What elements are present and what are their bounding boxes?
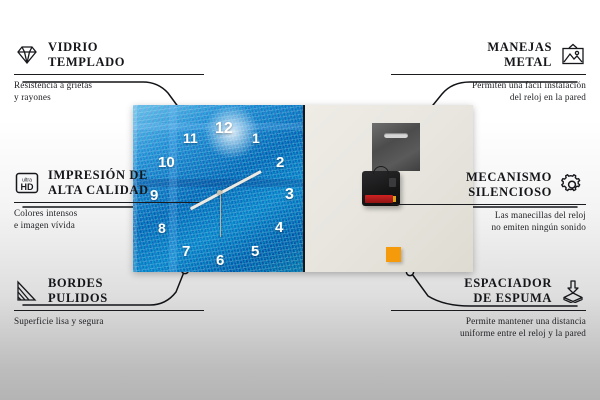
feature-title-line2: DE ESPUMA <box>464 291 552 306</box>
feature-title-line2: SILENCIOSO <box>466 185 552 200</box>
feature-title-line2: TEMPLADO <box>48 55 125 70</box>
metal-hanger-plate <box>372 123 420 171</box>
clock-numeral-2: 2 <box>276 155 284 170</box>
clock-numeral-7: 7 <box>182 244 190 259</box>
feature-title: VIDRIO TEMPLADO <box>48 40 125 70</box>
feature-title-line1: MANEJAS <box>487 40 552 55</box>
clock-numeral-9: 9 <box>150 188 158 203</box>
feature-description: Superficie lisa y segura <box>14 315 204 327</box>
clock-numeral-5: 5 <box>251 244 259 259</box>
feature-title-line1: VIDRIO <box>48 40 125 55</box>
feature-divider <box>14 74 204 75</box>
feature-bordes-pulidos: BORDES PULIDOS Superficie lisa y segura <box>14 276 204 327</box>
feature-title: MANEJAS METAL <box>487 40 552 70</box>
clock-numeral-4: 4 <box>275 220 283 235</box>
clock-numeral-12: 12 <box>215 121 233 137</box>
feature-header: ultra HD IMPRESIÓN DE ALTA CALIDAD <box>14 168 204 198</box>
picture-frame-hanger-icon <box>560 43 586 67</box>
feature-header: VIDRIO TEMPLADO <box>14 40 204 70</box>
feature-desc-line1: Resistencia a grietas <box>14 79 204 91</box>
diamond-icon <box>14 43 40 67</box>
feature-title-line1: MECANISMO <box>466 170 552 185</box>
feature-desc-line2: e imagen vívida <box>14 219 204 231</box>
infographic-canvas: 12 1 2 3 4 5 6 7 8 9 10 11 <box>0 0 600 400</box>
feature-title: MECANISMO SILENCIOSO <box>466 170 552 200</box>
feature-divider <box>391 204 586 205</box>
feature-header: MECANISMO SILENCIOSO <box>391 170 586 200</box>
feature-divider <box>391 74 586 75</box>
feature-header: ESPACIADOR DE ESPUMA <box>391 276 586 306</box>
battery <box>365 195 393 203</box>
clock-minute-hand <box>220 170 262 194</box>
feature-title-line2: METAL <box>487 55 552 70</box>
feature-title-line1: IMPRESIÓN DE <box>48 168 149 183</box>
feature-desc-line1: Permiten una fácil instalación <box>391 79 586 91</box>
feature-title: IMPRESIÓN DE ALTA CALIDAD <box>48 168 149 198</box>
feature-title: ESPACIADOR DE ESPUMA <box>464 276 552 306</box>
clock-second-hand <box>220 193 222 237</box>
feature-title: BORDES PULIDOS <box>48 276 108 306</box>
feature-espaciador-espuma: ESPACIADOR DE ESPUMA Permite mantener un… <box>391 276 586 340</box>
svg-text:HD: HD <box>21 182 34 192</box>
clock-numeral-6: 6 <box>216 253 224 268</box>
feature-description: Permite mantener una distancia uniforme … <box>391 315 586 340</box>
feature-desc-line1: Colores intensos <box>14 207 204 219</box>
feature-title-line2: ALTA CALIDAD <box>48 183 149 198</box>
feature-desc-line1: Superficie lisa y segura <box>14 315 204 327</box>
feature-header: MANEJAS METAL <box>391 40 586 70</box>
ultra-hd-icon: ultra HD <box>14 171 40 195</box>
feature-desc-line1: Permite mantener una distancia <box>391 315 586 327</box>
clock-numeral-1: 1 <box>252 131 260 145</box>
clock-center-pin <box>217 190 222 195</box>
feature-desc-line2: del reloj en la pared <box>391 91 586 103</box>
feature-desc-line2: uniforme entre el reloj y la pared <box>391 327 586 339</box>
foam-spacer-icon <box>560 279 586 303</box>
gear-icon <box>560 173 586 197</box>
feature-mecanismo-silencioso: MECANISMO SILENCIOSO Las manecillas del … <box>391 170 586 234</box>
feature-description: Resistencia a grietas y rayones <box>14 79 204 104</box>
feature-header: BORDES PULIDOS <box>14 276 204 306</box>
clock-numeral-11: 11 <box>183 131 198 145</box>
feature-divider <box>14 310 204 311</box>
feature-divider <box>391 310 586 311</box>
feature-vidrio-templado: VIDRIO TEMPLADO Resistencia a grietas y … <box>14 40 204 104</box>
feature-description: Colores intensos e imagen vívida <box>14 207 204 232</box>
feature-desc-line2: no emiten ningún sonido <box>391 221 586 233</box>
feature-title-line1: BORDES <box>48 276 108 291</box>
feature-description: Las manecillas del reloj no emiten ningú… <box>391 209 586 234</box>
clock-numeral-10: 10 <box>158 155 175 170</box>
feature-title-line2: PULIDOS <box>48 291 108 306</box>
feature-desc-line2: y rayones <box>14 91 204 103</box>
feature-impresion-alta-calidad: ultra HD IMPRESIÓN DE ALTA CALIDAD Color… <box>14 168 204 232</box>
feature-divider <box>14 202 204 203</box>
foam-spacer <box>386 247 401 262</box>
feature-title-line1: ESPACIADOR <box>464 276 552 291</box>
polished-edge-icon <box>14 279 40 303</box>
clock-numeral-3: 3 <box>285 187 294 203</box>
clock-numeral-8: 8 <box>158 221 166 235</box>
feature-description: Permiten una fácil instalación del reloj… <box>391 79 586 104</box>
feature-manejas-metal: MANEJAS METAL Permiten una fácil instala… <box>391 40 586 104</box>
feature-desc-line1: Las manecillas del reloj <box>391 209 586 221</box>
hanger-slot <box>384 133 408 138</box>
